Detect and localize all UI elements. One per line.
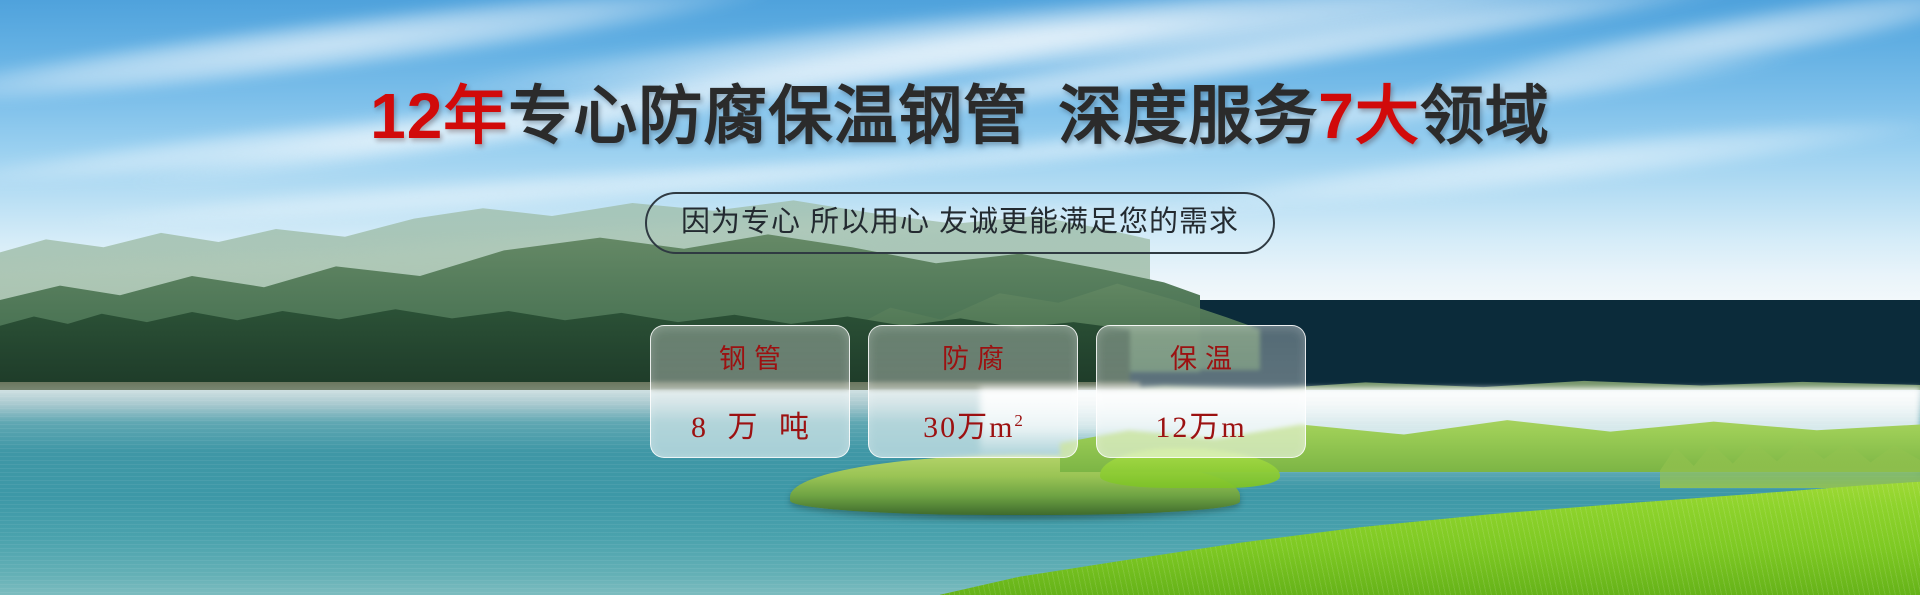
stat-value-superscript: 2 (1014, 411, 1023, 430)
banner-content: 12年专心防腐保温钢管深度服务7大领域 因为专心 所以用心 友诚更能满足您的需求… (0, 0, 1920, 595)
stat-card-anticorrosion[interactable]: 防腐 30万m2 (868, 325, 1078, 458)
stat-value: 30万m2 (923, 402, 1023, 446)
headline-fields-measure: 大 (1355, 80, 1420, 152)
headline-main-text: 专心防腐保温钢管 (508, 80, 1028, 152)
headline-years-unit: 年 (443, 80, 508, 152)
stat-label: 防腐 (934, 337, 1012, 376)
stat-value: 8 万 吨 (684, 402, 816, 446)
stat-label: 钢管 (711, 337, 789, 376)
promo-banner: 12年专心防腐保温钢管深度服务7大领域 因为专心 所以用心 友诚更能满足您的需求… (0, 0, 1920, 595)
stat-card-insulation[interactable]: 保温 12万m (1096, 325, 1306, 458)
headline-years-number: 12 (370, 80, 443, 152)
headline: 12年专心防腐保温钢管深度服务7大领域 (0, 84, 1920, 148)
stat-value: 12万m (1155, 402, 1246, 446)
stat-value-text: 30万m (923, 411, 1014, 444)
stat-card-steel-pipe[interactable]: 钢管 8 万 吨 (650, 325, 850, 458)
headline-fields-number: 7 (1318, 80, 1355, 152)
subtitle-container: 因为专心 所以用心 友诚更能满足您的需求 (0, 192, 1920, 254)
stat-card-group: 钢管 8 万 吨 防腐 30万m2 保温 12万m (650, 325, 1306, 458)
subtitle-pill: 因为专心 所以用心 友诚更能满足您的需求 (645, 192, 1275, 254)
headline-service-text: 深度服务 (1058, 80, 1318, 152)
stat-label: 保温 (1162, 337, 1240, 376)
headline-fields-text: 领域 (1420, 80, 1550, 152)
